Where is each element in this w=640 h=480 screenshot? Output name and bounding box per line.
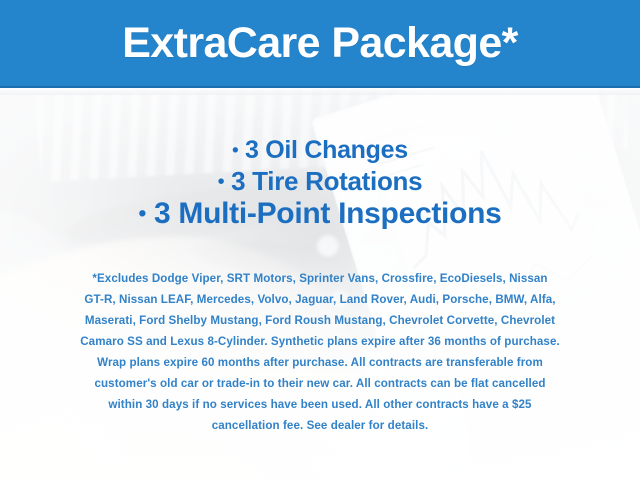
- header-banner: ExtraCare Package*: [0, 0, 640, 88]
- disclaimer-text: *Excludes Dodge Viper, SRT Motors, Sprin…: [0, 268, 640, 437]
- benefits-list: • 3 Oil Changes • 3 Tire Rotations • 3 M…: [0, 136, 640, 232]
- benefit-label: 3 Multi-Point Inspections: [154, 197, 502, 230]
- benefit-label: 3 Oil Changes: [245, 136, 408, 164]
- disclaimer-line: Wrap plans expire 60 months after purcha…: [26, 352, 614, 373]
- disclaimer-line: within 30 days if no services have been …: [26, 394, 614, 415]
- disclaimer-line: *Excludes Dodge Viper, SRT Motors, Sprin…: [26, 268, 614, 289]
- benefit-item-multi-point-inspections: • 3 Multi-Point Inspections: [0, 196, 640, 231]
- page-title: ExtraCare Package*: [122, 22, 518, 65]
- bullet-icon: •: [138, 201, 145, 226]
- disclaimer-line: GT-R, Nissan LEAF, Mercedes, Volvo, Jagu…: [26, 289, 614, 310]
- content-area: • 3 Oil Changes • 3 Tire Rotations • 3 M…: [0, 88, 640, 480]
- benefit-item-tire-rotations: • 3 Tire Rotations: [0, 166, 640, 197]
- disclaimer-line: Camaro SS and Lexus 8-Cylinder. Syntheti…: [26, 331, 614, 352]
- disclaimer-line: cancellation fee. See dealer for details…: [26, 415, 614, 436]
- benefit-item-oil-changes: • 3 Oil Changes: [0, 136, 640, 166]
- disclaimer-line: customer's old car or trade-in to their …: [26, 373, 614, 394]
- extracare-package-advertisement: ExtraCare Package* • 3 Oil Changes • 3 T…: [0, 0, 640, 480]
- bullet-icon: •: [218, 171, 224, 192]
- benefit-label: 3 Tire Rotations: [231, 166, 422, 196]
- disclaimer-line: Maserati, Ford Shelby Mustang, Ford Rous…: [26, 310, 614, 331]
- bullet-icon: •: [232, 139, 238, 160]
